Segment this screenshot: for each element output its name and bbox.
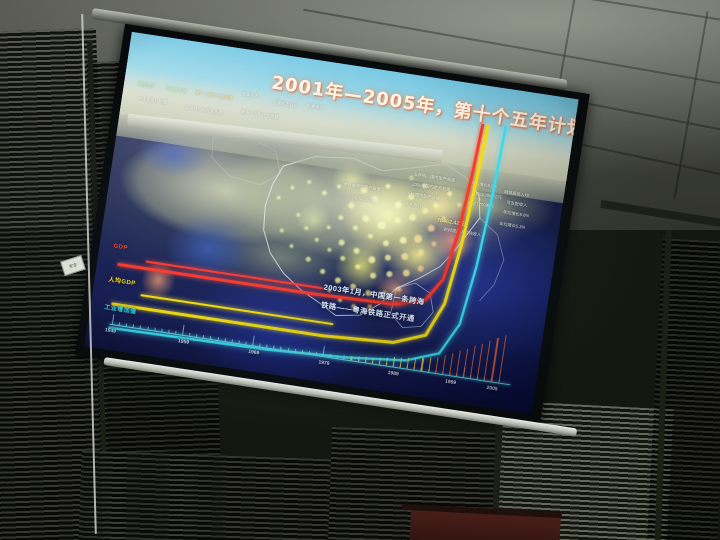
axis-bar: [414, 358, 417, 370]
axis-bar: [231, 341, 232, 342]
axis-bar: [491, 338, 499, 382]
axis-bar: [428, 357, 431, 372]
axis-bar: [379, 357, 381, 364]
axis-bar: [133, 326, 134, 327]
axis-bar: [217, 339, 218, 340]
axis-bar: [210, 338, 211, 339]
axis-bar: [259, 345, 260, 346]
axis-bar: [477, 343, 484, 379]
axis-bar: [456, 351, 461, 377]
axis-bar: [161, 331, 162, 332]
axis-bar: [344, 355, 346, 359]
projection-screen-assembly[interactable]: 2001年—2005年，第十个五年计划 国民经济和社会发展第十个五年计划纲要全国…: [0, 0, 720, 540]
axis-bar: [224, 340, 225, 341]
axis-bar: [245, 343, 246, 344]
axis-bar: [140, 327, 141, 328]
chart-bars: [84, 32, 578, 414]
axis-bar: [168, 332, 169, 333]
axis-bar: [329, 354, 331, 357]
projected-slide[interactable]: 2001年—2005年，第十个五年计划 国民经济和社会发展第十个五年计划纲要全国…: [84, 32, 578, 414]
axis-bar: [273, 348, 274, 349]
axis-bar: [358, 356, 360, 361]
axis-bar: [175, 333, 176, 334]
axis-bar: [322, 353, 324, 356]
axis-bar: [154, 329, 155, 330]
axis-bar: [336, 355, 338, 359]
axis-bar: [449, 353, 454, 375]
axis-bar: [442, 355, 446, 374]
classroom-scene: 2001年—2005年，第十个五年计划 国民经济和社会发展第十个五年计划纲要全国…: [0, 0, 720, 540]
axis-bar: [421, 358, 424, 371]
axis-bar: [147, 328, 148, 329]
axis-bar: [393, 358, 396, 367]
axis-bar: [238, 342, 239, 343]
axis-bar: [119, 324, 120, 325]
axis-bar: [365, 357, 367, 363]
axis-bar: [294, 350, 295, 352]
axis-bar: [308, 352, 309, 354]
axis-bar: [400, 358, 403, 368]
axis-bar: [484, 341, 491, 381]
axis-bar: [301, 351, 302, 353]
axis-bar: [470, 346, 476, 379]
axis-bar: [386, 358, 388, 366]
axis-bar: [435, 357, 439, 373]
axis-bar: [280, 349, 281, 350]
axis-bar: [463, 348, 469, 377]
axis-bar: [112, 323, 113, 324]
axis-bar: [126, 325, 127, 326]
axis-bar: [351, 356, 353, 361]
axis-bar: [203, 337, 204, 338]
axis-bar: [196, 336, 197, 337]
axis-bar: [372, 357, 374, 364]
screen-cord-tag[interactable]: 安全: [60, 255, 86, 276]
axis-bar: [287, 349, 288, 350]
axis-bar: [189, 335, 190, 336]
axis-bar: [182, 334, 183, 335]
axis-bar: [315, 353, 317, 355]
axis-bar: [266, 346, 267, 347]
axis-bar: [407, 358, 410, 369]
axis-bar: [252, 344, 253, 345]
axis-bar: [498, 335, 506, 383]
